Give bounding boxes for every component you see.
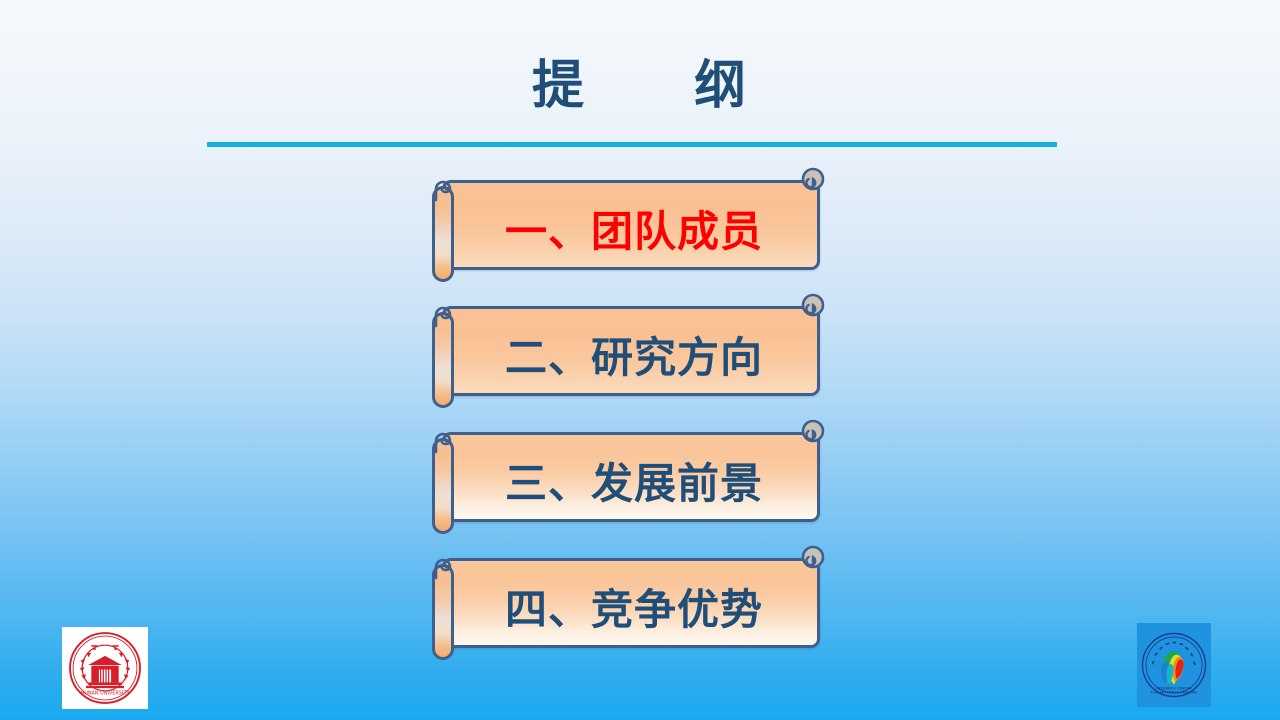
- scroll-curl-right-icon: [800, 418, 826, 444]
- scroll-curl-right-icon: [800, 166, 826, 192]
- scroll-curl-left-icon: [430, 178, 458, 206]
- outline-item-label: 二、研究方向: [445, 309, 817, 396]
- svg-text:FOR ANTENNAS AND EMC: FOR ANTENNAS AND EMC: [1151, 691, 1198, 695]
- outline-item-label: 三、发展前景: [445, 435, 817, 522]
- svg-text:RESEARCH CENTER: RESEARCH CENTER: [1156, 687, 1192, 691]
- outline-item-label: 一、团队成员: [445, 183, 817, 270]
- scroll-curl-left-icon: [430, 304, 458, 332]
- outline-item-2[interactable]: 二、研究方向: [430, 306, 820, 396]
- outline-item-4[interactable]: 四、竞争优势: [430, 558, 820, 648]
- scroll-curl-left-icon: [430, 556, 458, 584]
- scroll-paper-body: 二、研究方向: [442, 306, 820, 396]
- outline-list: 一、团队成员 二、研究方向: [0, 0, 1280, 720]
- university-logo: HUNAN UNIVERSITY: [62, 627, 148, 709]
- scroll-curl-right-icon: [800, 292, 826, 318]
- outline-item-label: 四、竞争优势: [445, 561, 817, 648]
- scroll-paper-body: 四、竞争优势: [442, 558, 820, 648]
- scroll-curl-right-icon: [800, 544, 826, 570]
- scroll-paper-body: 三、发展前景: [442, 432, 820, 522]
- outline-item-3[interactable]: 三、发展前景: [430, 432, 820, 522]
- research-center-antennas-emc-seal-icon: RESEARCH CENTER FOR ANTENNAS AND EMC: [1139, 630, 1209, 700]
- research-center-logo: RESEARCH CENTER FOR ANTENNAS AND EMC: [1137, 623, 1211, 707]
- scroll-paper-body: 一、团队成员: [442, 180, 820, 270]
- outline-item-1[interactable]: 一、团队成员: [430, 180, 820, 270]
- scroll-curl-left-icon: [430, 430, 458, 458]
- hunan-university-seal-icon: HUNAN UNIVERSITY: [66, 630, 144, 706]
- svg-text:HUNAN UNIVERSITY: HUNAN UNIVERSITY: [81, 691, 131, 697]
- presentation-slide: 提 纲 一、团队成员 二、研究方向: [0, 0, 1280, 720]
